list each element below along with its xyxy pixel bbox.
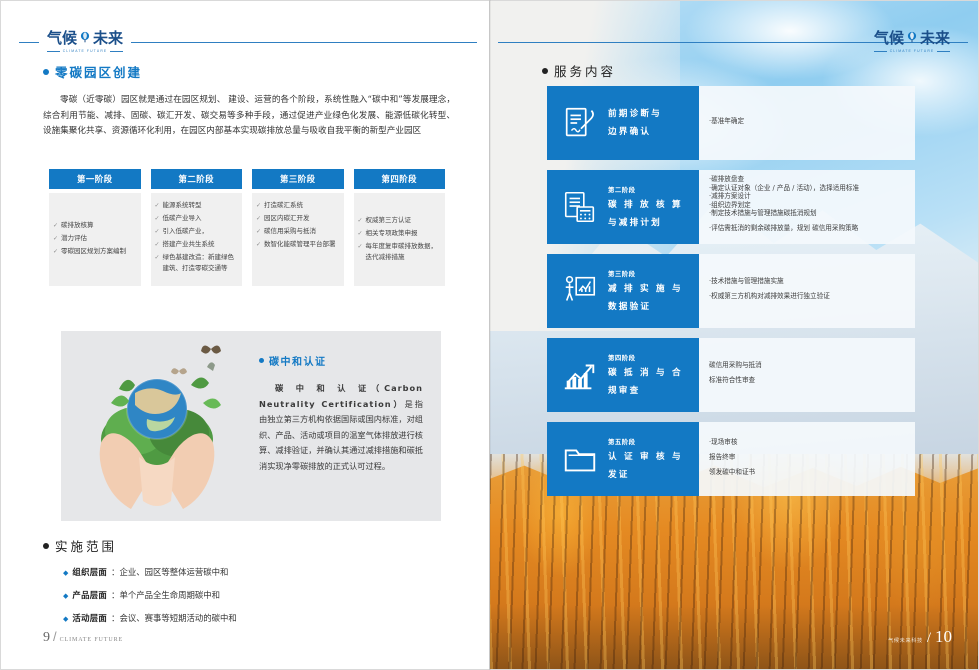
service-bullet: 报告终审 (709, 452, 905, 463)
service-step-title-4: 第四阶段 碳 抵 消 与 合 规审查 (608, 353, 683, 398)
service-step-label-2: 第二阶段 碳 排 放 核 算 与减排计划 (547, 170, 699, 244)
service-step-stage: 第二阶段 (608, 185, 683, 194)
folio-label: 气候未来科技 (888, 637, 923, 644)
stage-item-label: 相关专项政策申报 (366, 228, 418, 239)
service-bullet: ·组织边界划定 (709, 202, 905, 210)
check-icon: ✓ (53, 246, 58, 257)
service-step-title-3: 第三阶段 减 排 实 施 与 数据验证 (608, 269, 683, 314)
stage-item: ✓绿色基建改造：新建绿色建筑、打造零碳交通等 (155, 252, 239, 274)
stage-item: ✓数智化能碳管理平台部署 (256, 239, 340, 250)
scope-item: ◆ 产品层面 ：单个产品全生命周期碳中和 (63, 589, 393, 601)
certification-panel: 碳中和认证 碳 中 和 认 证（Carbon Neutrality Certif… (61, 331, 441, 521)
service-step-stage: 第五阶段 (608, 437, 683, 446)
stage-item-label: 数智化能碳管理平台部署 (264, 239, 336, 250)
service-step-detail-5: ·现场审核 报告终审 领发碳中和证书 (699, 422, 915, 496)
stage-item: ✓园区内碳汇开发 (256, 213, 340, 224)
certification-description: 是指由独立第三方机构依据国际或国内标准，对组织、产品、活动或项目的温室气体排放进… (259, 399, 423, 471)
service-step-name-line1: 减 排 实 施 与 (608, 283, 683, 296)
stage-item-label: 能源系统转型 (163, 200, 202, 211)
service-step-detail-2: ·碳排放盘查 ·确定认证对象（企业 / 产品 / 活动），选择适用标准 ·减排方… (699, 170, 915, 244)
service-bullet: ·制定技术措施与管理措施碳抵消规划 (709, 210, 905, 218)
document-pen-icon (560, 103, 600, 143)
diamond-bullet-icon: ◆ (63, 616, 68, 623)
scope-item-value: ：企业、园区等整体运营碳中和 (111, 566, 228, 578)
stage-item: ✓潜力评估 (53, 233, 137, 244)
stage-header-4: 第四阶段 (354, 169, 446, 189)
brochure-spread: 气候 未来 CLIMATE FUTURE 零碳园区创建 零碳（近零碳）园区就是通… (0, 0, 979, 670)
check-icon: ✓ (155, 239, 160, 250)
bullet-dot-icon (43, 543, 49, 549)
stage-item: ✓每年度复审碳排放数据，迭代减排措施 (358, 241, 442, 263)
page-folio-left: 9 / CLIMATE FUTURE (43, 629, 123, 646)
check-icon: ✓ (53, 233, 58, 244)
service-bullet: ·权威第三方机构对减排效果进行独立验证 (709, 291, 905, 302)
presenter-chart-icon (560, 271, 600, 311)
logo-cn-second: 未来 (93, 27, 123, 48)
stage-item-label: 引入低碳产业， (163, 226, 209, 237)
brand-logo-left: 气候 未来 CLIMATE FUTURE (39, 25, 131, 55)
stage-body-4: ✓权威第三方认证 ✓相关专项政策申报 ✓每年度复审碳排放数据，迭代减排措施 (354, 193, 446, 286)
service-step-label-1: 前期诊断与 边界确认 (547, 86, 699, 160)
service-step-name-line2: 规审查 (608, 385, 683, 398)
service-bullet: ·基准年确定 (709, 116, 905, 127)
stage-item-label: 潜力评估 (61, 233, 87, 244)
service-step-name-line2: 发证 (608, 469, 683, 482)
stage-item: ✓碳信用采购与抵消 (256, 226, 340, 237)
service-bullet: ·确定认证对象（企业 / 产品 / 活动），选择适用标准 (709, 185, 905, 193)
service-step-4: 第四阶段 碳 抵 消 与 合 规审查 碳信用采购与抵消 标准符合性审查 (547, 338, 915, 412)
service-step-title-1: 前期诊断与 边界确认 (608, 108, 662, 139)
leaf-globe-icon (906, 31, 918, 43)
folder-icon (560, 439, 600, 479)
bullet-dot-icon (259, 358, 264, 363)
bullet-dot-icon (542, 68, 548, 74)
folio-label: CLIMATE FUTURE (60, 637, 123, 643)
stage-item-label: 低碳产业导入 (163, 213, 202, 224)
stage-body-1: ✓碳排放核算 ✓潜力评估 ✓零碳园区规划方案编制 (49, 193, 141, 286)
scope-item: ◆ 活动层面 ：会议、赛事等短期活动的碳中和 (63, 612, 393, 624)
stage-item: ✓低碳产业导入 (155, 213, 239, 224)
certification-lead: 碳 中 和 认 证（Carbon Neutrality Certificatio… (259, 383, 423, 409)
scope-item-key: 活动层面 (72, 612, 107, 624)
stage-item-label: 碳排放核算 (61, 220, 94, 231)
stage-header-3: 第三阶段 (252, 169, 344, 189)
certification-heading: 碳中和认证 (259, 353, 423, 368)
stage-item-label: 权威第三方认证 (366, 215, 412, 226)
stage-item-label: 园区内碳汇开发 (264, 213, 310, 224)
stage-item-label: 每年度复审碳排放数据，迭代减排措施 (366, 241, 441, 263)
page-folio-right: 气候未来科技 / 10 (888, 627, 952, 647)
service-step-name-line2: 边界确认 (608, 126, 662, 139)
service-step-title-5: 第五阶段 认 证 审 核 与 发证 (608, 437, 683, 482)
check-icon: ✓ (358, 241, 363, 263)
service-step-name-line1: 认 证 审 核 与 (608, 451, 683, 464)
service-bullet: ·碳排放盘查 (709, 176, 905, 184)
intro-paragraph: 零碳（近零碳）园区就是通过在园区规划、 建设、运营的各个阶段，系统性融入“碳中和… (43, 93, 455, 140)
stage-column-1: 第一阶段 ✓碳排放核算 ✓潜力评估 ✓零碳园区规划方案编制 (49, 169, 141, 286)
certification-text: 碳中和认证 碳 中 和 认 证（Carbon Neutrality Certif… (253, 331, 441, 521)
folio-slash: / (927, 630, 931, 647)
stage-item: ✓搭建产业共生系统 (155, 239, 239, 250)
certification-title: 碳中和认证 (269, 353, 327, 368)
service-step-2: 第二阶段 碳 排 放 核 算 与减排计划 ·碳排放盘查 ·确定认证对象（企业 /… (547, 170, 915, 244)
service-step-3: 第三阶段 减 排 实 施 与 数据验证 ·技术措施与管理措施实施 ·权威第三方机… (547, 254, 915, 328)
earth-in-hands-image (61, 331, 253, 521)
leaf-globe-icon (79, 31, 91, 43)
check-icon: ✓ (53, 220, 58, 231)
scope-item-value: ：单个产品全生命周期碳中和 (111, 589, 220, 601)
service-step-name-line1: 前期诊断与 (608, 108, 662, 121)
diamond-bullet-icon: ◆ (63, 570, 68, 577)
service-bullet: ·技术措施与管理措施实施 (709, 276, 905, 287)
service-step-name-line2: 与减排计划 (608, 217, 683, 230)
check-icon: ✓ (155, 226, 160, 237)
logo-tagline: CLIMATE FUTURE (890, 49, 935, 53)
service-step-label-3: 第三阶段 减 排 实 施 与 数据验证 (547, 254, 699, 328)
service-step-detail-1: ·基准年确定 (699, 86, 915, 160)
logo-wordmark: 气候 未来 (47, 27, 123, 48)
brand-logo-right: 气候 未来 CLIMATE FUTURE (866, 25, 958, 55)
stage-item: ✓打造碳汇系统 (256, 200, 340, 211)
stage-item: ✓碳排放核算 (53, 220, 137, 231)
check-icon: ✓ (155, 213, 160, 224)
stage-item: ✓相关专项政策申报 (358, 228, 442, 239)
service-step-title-2: 第二阶段 碳 排 放 核 算 与减排计划 (608, 185, 683, 230)
stage-column-3: 第三阶段 ✓打造碳汇系统 ✓园区内碳汇开发 ✓碳信用采购与抵消 ✓数智化能碳管理… (252, 169, 344, 286)
stage-item-label: 搭建产业共生系统 (163, 239, 215, 250)
stage-body-3: ✓打造碳汇系统 ✓园区内碳汇开发 ✓碳信用采购与抵消 ✓数智化能碳管理平台部署 (252, 193, 344, 286)
check-icon: ✓ (358, 228, 363, 239)
bullet-dot-icon (43, 69, 49, 75)
stage-column-2: 第二阶段 ✓能源系统转型 ✓低碳产业导入 ✓引入低碳产业， ✓搭建产业共生系统 … (151, 169, 243, 286)
stage-header-1: 第一阶段 (49, 169, 141, 189)
scope-list: ◆ 组织层面 ：企业、园区等整体运营碳中和 ◆ 产品层面 ：单个产品全生命周期碳… (63, 566, 393, 635)
logo-cn-first: 气候 (874, 27, 904, 48)
scope-item: ◆ 组织层面 ：企业、园区等整体运营碳中和 (63, 566, 393, 578)
stage-column-4: 第四阶段 ✓权威第三方认证 ✓相关专项政策申报 ✓每年度复审碳排放数据，迭代减排… (354, 169, 446, 286)
growth-bar-arrow-icon (560, 355, 600, 395)
folio-slash: / (53, 629, 57, 644)
service-step-detail-3: ·技术措施与管理措施实施 ·权威第三方机构对减排效果进行独立验证 (699, 254, 915, 328)
stage-item-label: 绿色基建改造：新建绿色建筑、打造零碳交通等 (163, 252, 238, 274)
section-heading-scope: 实施范围 (43, 536, 117, 555)
stage-header-2: 第二阶段 (151, 169, 243, 189)
check-icon: ✓ (256, 200, 261, 211)
service-step-name-line2: 数据验证 (608, 301, 683, 314)
folio-number: 10 (935, 627, 952, 647)
stage-columns: 第一阶段 ✓碳排放核算 ✓潜力评估 ✓零碳园区规划方案编制 第二阶段 ✓能源系统… (49, 169, 445, 286)
section-title-scope: 实施范围 (55, 536, 117, 555)
logo-wordmark: 气候 未来 (874, 27, 950, 48)
service-bullet: 碳信用采购与抵消 (709, 360, 905, 371)
service-step-stage: 第三阶段 (608, 269, 683, 278)
service-bullet: 领发碳中和证书 (709, 467, 905, 478)
stage-item: ✓权威第三方认证 (358, 215, 442, 226)
check-icon: ✓ (256, 213, 261, 224)
service-bullet: ·现场审核 (709, 437, 905, 448)
service-step-detail-4: 碳信用采购与抵消 标准符合性审查 (699, 338, 915, 412)
stage-item: ✓能源系统转型 (155, 200, 239, 211)
stage-body-2: ✓能源系统转型 ✓低碳产业导入 ✓引入低碳产业， ✓搭建产业共生系统 ✓绿色基建… (151, 193, 243, 286)
stage-item-label: 零碳园区规划方案编制 (61, 246, 126, 257)
section-title-service: 服务内容 (554, 61, 616, 80)
stage-item: ✓引入低碳产业， (155, 226, 239, 237)
ledger-calculator-icon (560, 187, 600, 227)
page-gutter (489, 0, 491, 670)
service-bullet: ·评估需抵消的剩余碳排放量，规划 碳信用采购策略 (709, 225, 905, 233)
stage-item-label: 碳信用采购与抵消 (264, 226, 316, 237)
service-bullet: 标准符合性审查 (709, 375, 905, 386)
service-step-label-5: 第五阶段 认 证 审 核 与 发证 (547, 422, 699, 496)
section-title-zero-carbon: 零碳园区创建 (55, 62, 142, 81)
check-icon: ✓ (256, 226, 261, 237)
check-icon: ✓ (155, 252, 160, 274)
check-icon: ✓ (358, 215, 363, 226)
service-step-1: 前期诊断与 边界确认 ·基准年确定 (547, 86, 915, 160)
certification-body: 碳 中 和 认 证（Carbon Neutrality Certificatio… (259, 381, 423, 474)
logo-tagline: CLIMATE FUTURE (63, 49, 108, 53)
logo-cn-first: 气候 (47, 27, 77, 48)
scope-item-value: ：会议、赛事等短期活动的碳中和 (111, 612, 237, 624)
left-page: 气候 未来 CLIMATE FUTURE 零碳园区创建 零碳（近零碳）园区就是通… (0, 0, 490, 670)
check-icon: ✓ (155, 200, 160, 211)
diamond-bullet-icon: ◆ (63, 593, 68, 600)
service-step-name-line1: 碳 排 放 核 算 (608, 199, 683, 212)
service-bullet: ·减排方案设计 (709, 193, 905, 201)
stage-item-label: 打造碳汇系统 (264, 200, 303, 211)
service-step-name-line1: 碳 抵 消 与 合 (608, 367, 683, 380)
scope-item-key: 产品层面 (72, 589, 107, 601)
check-icon: ✓ (256, 239, 261, 250)
section-heading-service: 服务内容 (542, 61, 616, 80)
scope-item-key: 组织层面 (72, 566, 107, 578)
logo-cn-second: 未来 (920, 27, 950, 48)
right-page: 气候 未来 CLIMATE FUTURE 服务内容 (490, 0, 979, 670)
service-steps-list: 前期诊断与 边界确认 ·基准年确定 (547, 86, 915, 506)
service-step-5: 第五阶段 认 证 审 核 与 发证 ·现场审核 报告终审 领发碳中和证书 (547, 422, 915, 496)
stage-item: ✓零碳园区规划方案编制 (53, 246, 137, 257)
folio-number: 9 (43, 630, 50, 646)
service-step-label-4: 第四阶段 碳 抵 消 与 合 规审查 (547, 338, 699, 412)
service-step-stage: 第四阶段 (608, 353, 683, 362)
section-heading-zero-carbon: 零碳园区创建 (43, 62, 142, 81)
